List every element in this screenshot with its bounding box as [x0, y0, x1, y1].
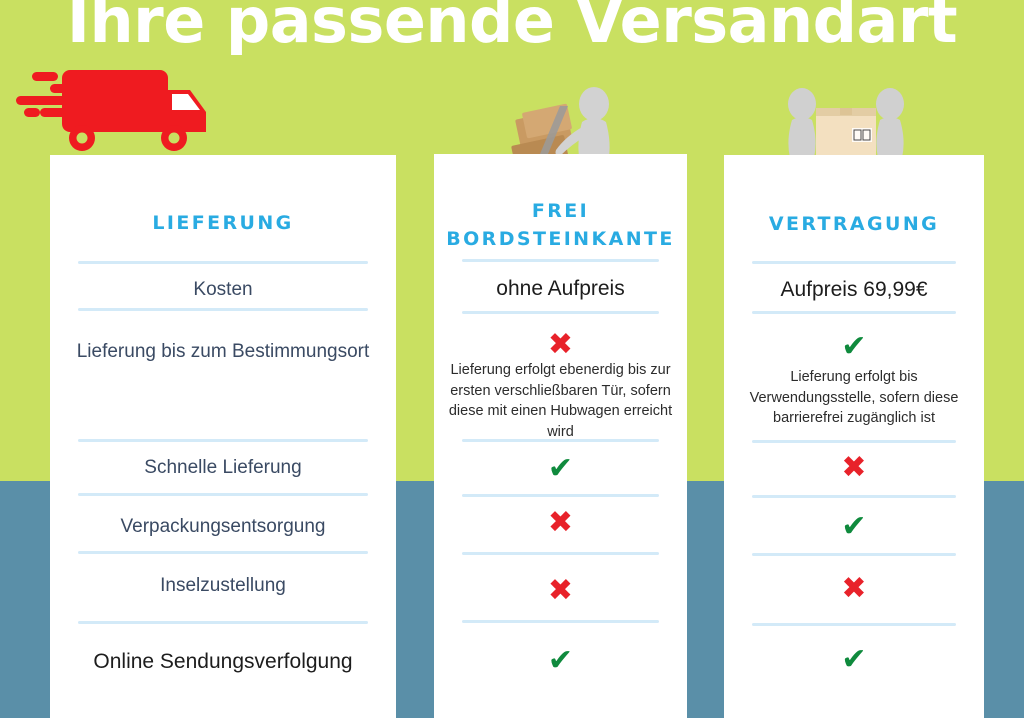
column-title-frei-bordsteinkante: FREI BORDSTEINKANTE — [434, 198, 687, 253]
row-separator — [752, 553, 956, 556]
status-mark-bestimmungsort: ✔ — [724, 332, 984, 362]
status-mark-sendungsverfolgung: ✔ — [724, 645, 984, 675]
row-separator — [78, 261, 368, 264]
row-separator — [462, 552, 659, 555]
status-mark-verpackungsentsorgung: ✖ — [434, 508, 687, 538]
delivery-truck-icon — [12, 62, 212, 162]
column-note-vertragung: Lieferung erfolgt bis Verwendungsstelle,… — [734, 367, 974, 429]
price-value-frei-bordsteinkante: ohne Aufpreis — [448, 273, 673, 305]
row-separator — [78, 621, 368, 624]
row-separator — [752, 495, 956, 498]
row-separator — [78, 493, 368, 496]
status-mark-bestimmungsort: ✖ — [434, 330, 687, 360]
infographic-canvas: Ihre passende Versandart — [0, 0, 1024, 718]
row-separator — [78, 439, 368, 442]
column-note-frei-bordsteinkante: Lieferung erfolgt ebenerdig bis zur erst… — [444, 360, 677, 442]
status-mark-schnelle-lieferung: ✖ — [724, 453, 984, 483]
row-separator — [462, 311, 659, 314]
row-separator — [752, 261, 956, 264]
feature-label-bestimmungsort: Lieferung bis zum Bestimmungsort — [64, 338, 382, 367]
page-title: Ihre passende Versandart — [0, 0, 1024, 53]
row-separator — [78, 551, 368, 554]
column-title-vertragung: VERTRAGUNG — [724, 213, 984, 235]
status-mark-schnelle-lieferung: ✔ — [434, 454, 687, 484]
feature-label-inselzustellung: Inselzustellung — [64, 572, 382, 601]
column-title-line-2: BORDSTEINKANTE — [434, 226, 687, 254]
column-card-vertragung: VERTRAGUNG Aufpreis 69,99€ ✔ Lieferung e… — [724, 155, 984, 718]
row-separator — [752, 311, 956, 314]
feature-label-schnelle-lieferung: Schnelle Lieferung — [64, 454, 382, 483]
column-title-lieferung: LIEFERUNG — [50, 212, 396, 234]
row-separator — [752, 440, 956, 443]
column-title-line-1: FREI — [434, 198, 687, 226]
status-mark-inselzustellung: ✖ — [724, 574, 984, 604]
status-mark-inselzustellung: ✖ — [434, 576, 687, 606]
row-separator — [78, 308, 368, 311]
price-value-vertragung: Aufpreis 69,99€ — [738, 274, 970, 306]
feature-label-kosten: Kosten — [64, 276, 382, 305]
row-separator — [462, 620, 659, 623]
status-mark-verpackungsentsorgung: ✔ — [724, 512, 984, 542]
column-card-frei-bordsteinkante: FREI BORDSTEINKANTE ohne Aufpreis ✖ Lief… — [434, 154, 687, 718]
status-mark-sendungsverfolgung: ✔ — [434, 646, 687, 676]
feature-label-sendungsverfolgung: Online Sendungsverfolgung — [64, 646, 382, 678]
row-separator — [462, 494, 659, 497]
feature-label-verpackungsentsorgung: Verpackungsentsorgung — [64, 513, 382, 542]
row-separator — [462, 259, 659, 262]
row-separator — [752, 623, 956, 626]
row-separator — [462, 439, 659, 442]
column-card-lieferung: LIEFERUNG Kosten Lieferung bis zum Besti… — [50, 155, 396, 718]
